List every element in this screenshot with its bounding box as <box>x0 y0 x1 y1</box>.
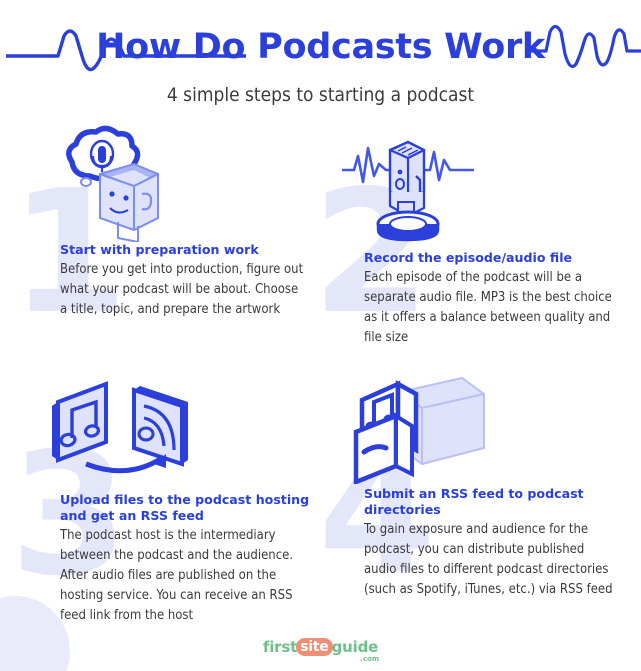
step-4-illustration <box>338 366 638 486</box>
step-3-text: Upload files to the podcast hosting and … <box>38 492 338 626</box>
step-title: Record the episode/audio file <box>364 250 616 266</box>
step-2-text: Record the episode/audio file Each episo… <box>338 250 638 348</box>
step-body: To gain exposure and audience for the po… <box>364 520 616 600</box>
step-item-2: Record the episode/audio file Each episo… <box>338 130 638 348</box>
footer: firstsiteguide .com <box>0 632 641 656</box>
step-title: Start with preparation work <box>60 242 310 258</box>
firstsiteguide-logo[interactable]: firstsiteguide .com <box>263 638 378 656</box>
header: How Do Podcasts Work 4 simple steps to s… <box>0 0 641 118</box>
logo-text-dotcom: .com <box>360 655 379 663</box>
step-title: Submit an RSS feed to podcast directorie… <box>364 486 616 518</box>
step-body: The podcast host is the intermediary bet… <box>60 526 308 626</box>
logo-badge-site: site <box>296 638 333 656</box>
filing-cabinet-music-icon <box>338 366 488 484</box>
step-3-illustration <box>38 372 338 492</box>
thinking-head-microphone-icon <box>38 122 168 242</box>
logo-text-guide: guide <box>332 638 378 656</box>
page-subtitle: 4 simple steps to starting a podcast <box>0 84 641 106</box>
step-title: Upload files to the podcast hosting and … <box>60 492 310 524</box>
step-4-text: Submit an RSS feed to podcast directorie… <box>338 486 638 600</box>
page-title: How Do Podcasts Work <box>0 26 641 68</box>
step-body: Before you get into production, figure o… <box>60 260 308 320</box>
step-item-3: Upload files to the podcast hosting and … <box>38 372 338 626</box>
infographic-page: How Do Podcasts Work 4 simple steps to s… <box>0 0 641 671</box>
step-item-1: Start with preparation work Before you g… <box>38 122 338 320</box>
step-item-4: Submit an RSS feed to podcast directorie… <box>338 366 638 600</box>
studio-microphone-waveform-icon <box>338 130 478 245</box>
music-note-to-rss-feed-icon <box>38 372 203 482</box>
step-1-illustration <box>38 122 338 242</box>
step-body: Each episode of the podcast will be a se… <box>364 268 616 348</box>
logo-text-first: first <box>263 638 297 656</box>
step-2-illustration <box>338 130 638 250</box>
step-1-text: Start with preparation work Before you g… <box>38 242 338 320</box>
